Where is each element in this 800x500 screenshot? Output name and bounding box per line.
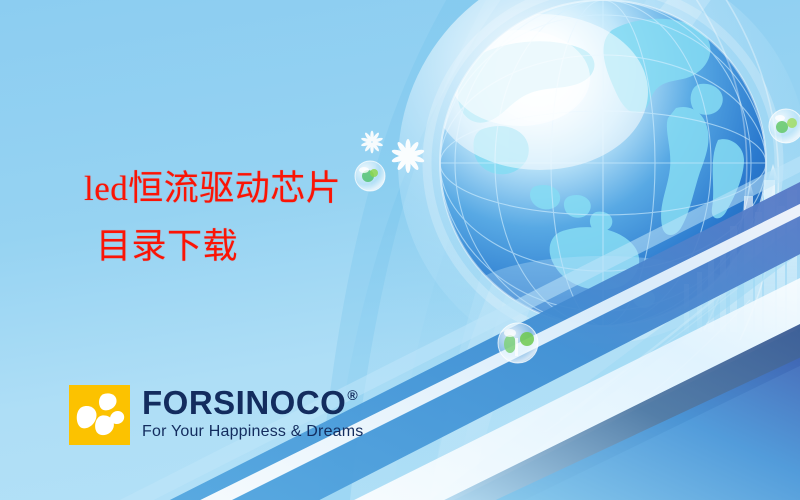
globe-graticule xyxy=(440,0,766,326)
bubble-eco-right xyxy=(769,109,800,143)
starburst-flower-small xyxy=(361,131,384,154)
brand-name: FORSINOCO® xyxy=(142,386,364,419)
four-petal-pinwheel-icon xyxy=(69,385,130,445)
bubble-eco-leaf xyxy=(498,323,538,363)
logo-wordmark: FORSINOCO® For Your Happiness & Dreams xyxy=(142,385,364,442)
brand-name-text: FORSINOCO xyxy=(142,386,346,419)
brand-logo[interactable]: FORSINOCO® For Your Happiness & Dreams xyxy=(69,385,364,445)
headline-line-1: led恒流驱动芯片 xyxy=(84,160,484,218)
city-skyline-silhouette xyxy=(684,164,797,332)
light-streaks xyxy=(545,276,750,432)
brand-tagline: For Your Happiness & Dreams xyxy=(142,422,364,442)
logo-mark-square xyxy=(69,385,130,445)
registered-trademark-symbol: ® xyxy=(347,388,358,402)
headline-line-2: 目录下载 xyxy=(84,218,484,276)
promo-banner: led恒流驱动芯片 目录下载 FORSINOCO® For Your Happi… xyxy=(0,0,800,500)
orbit-arcs xyxy=(690,0,778,340)
headline-text: led恒流驱动芯片 目录下载 xyxy=(84,160,484,276)
globe-continents xyxy=(458,19,744,308)
